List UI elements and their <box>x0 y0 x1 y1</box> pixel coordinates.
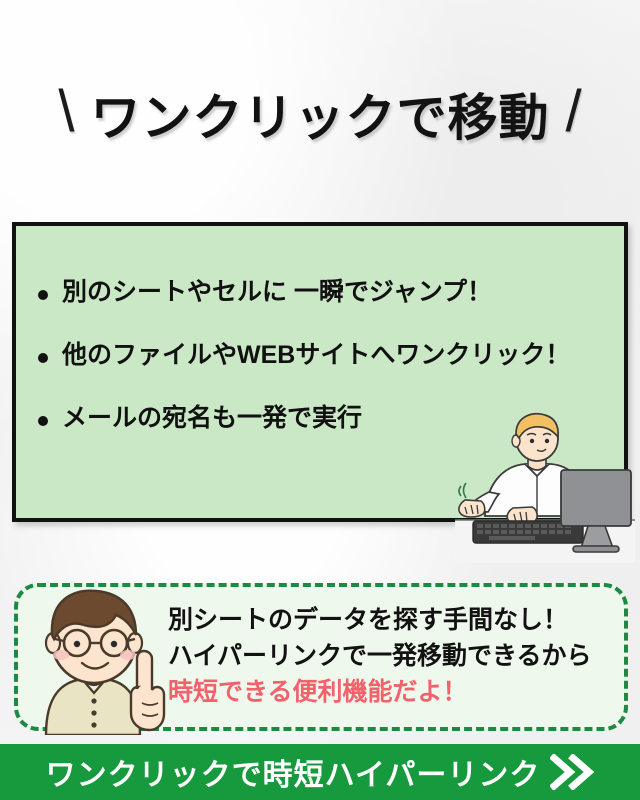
tip-text-block: 別シートのデータを探す手間なし！ ハイパーリンクで一発移動できるから 時短できる… <box>168 603 608 709</box>
avatar <box>30 583 166 735</box>
bullet-dot-icon <box>38 353 48 363</box>
bullet-dot-icon <box>38 416 48 426</box>
double-chevron-right-icon <box>550 754 594 790</box>
list-item: 他のファイルやWEBサイトへワンクリック！ <box>38 341 610 370</box>
title-text: ワンクリックで移動 <box>91 78 550 150</box>
man-typing-illustration <box>455 408 635 563</box>
bullet-text: 他のファイルやWEBサイトへワンクリック！ <box>62 341 570 370</box>
list-item: 別のシートやセルに 一瞬でジャンプ！ <box>38 278 610 307</box>
tip-speech-bubble: 別シートのデータを探す手間なし！ ハイパーリンクで一発移動できるから 時短できる… <box>14 583 628 731</box>
footer-banner: ワンクリックで時短ハイパーリンク <box>0 744 640 800</box>
tip-line-2: ハイパーリンクで一発移動できるから <box>168 639 608 673</box>
bullet-dot-icon <box>38 290 48 300</box>
bullet-text: 別のシートやセルに 一瞬でジャンプ！ <box>62 278 492 307</box>
bullet-text: メールの宛名も一発で実行 <box>62 404 362 433</box>
poster-canvas: \ ワンクリックで移動 / 別のシートやセルに 一瞬でジャンプ！ 他のファイルや… <box>0 0 640 800</box>
tip-line-3-highlight: 時短できる便利機能だよ！ <box>168 675 608 709</box>
page-title: \ ワンクリックで移動 / <box>0 78 640 150</box>
tip-line-1: 別シートのデータを探す手間なし！ <box>168 603 608 637</box>
footer-text: ワンクリックで時短ハイパーリンク <box>46 750 541 794</box>
title-slash-right-icon: / <box>566 83 582 141</box>
title-slash-left-icon: \ <box>58 83 74 141</box>
